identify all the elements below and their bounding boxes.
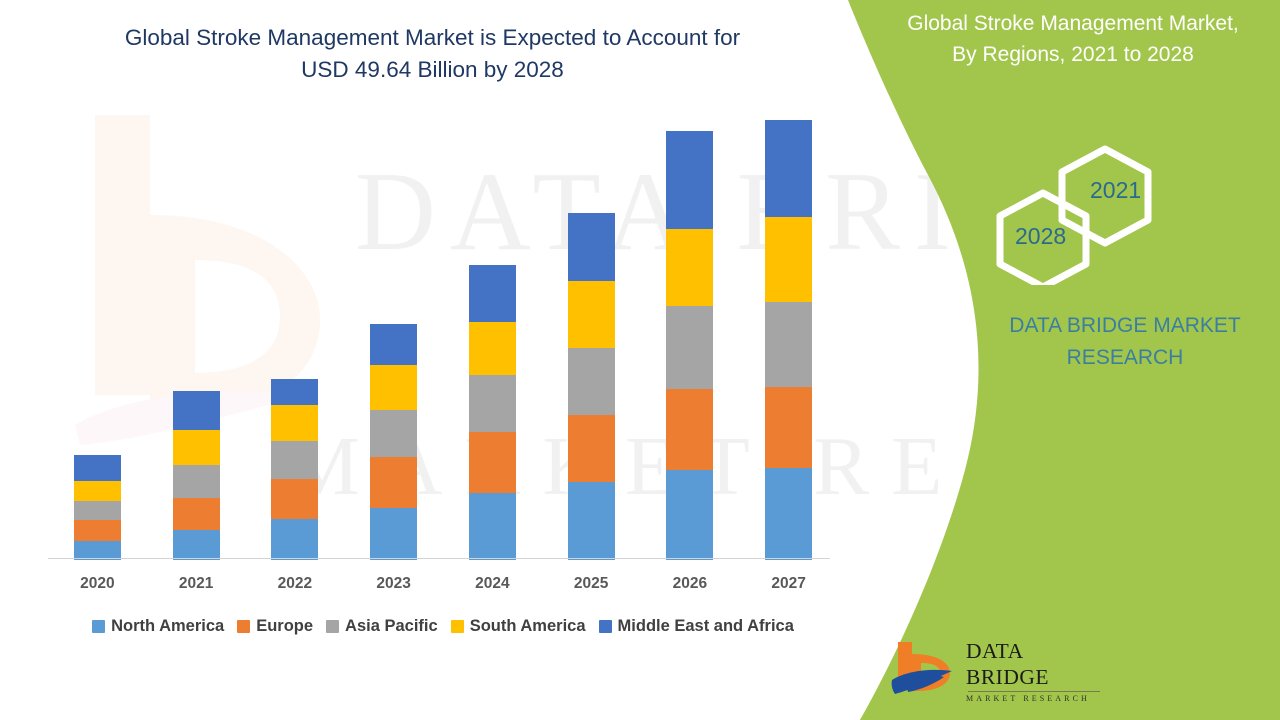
bar-segment <box>469 493 516 560</box>
bar-segment <box>74 520 121 541</box>
bar-segment <box>568 482 615 560</box>
legend-label: Europe <box>256 617 313 636</box>
legend-swatch-icon <box>451 620 464 633</box>
bar-segment <box>173 498 220 531</box>
logo-wordmark: DATA BRIDGE MARKET RESEARCH <box>966 638 1106 703</box>
bar-column <box>469 120 516 560</box>
bar-segment <box>271 405 318 441</box>
bar-segment <box>173 430 220 465</box>
bar-segment <box>271 441 318 479</box>
data-bridge-logo-icon <box>890 638 956 700</box>
bar-segment <box>370 410 417 457</box>
x-axis-line <box>48 558 830 559</box>
legend-item[interactable]: Europe <box>237 617 313 636</box>
logo-divider <box>968 691 1100 692</box>
infographic-canvas: DATA BRIDGE MARKET RESEARCH Global Strok… <box>0 0 1280 720</box>
x-axis-label-2025: 2025 <box>546 575 636 593</box>
panel-title-line-1: Global Stroke Management Market, <box>907 12 1239 35</box>
bar-segment <box>370 324 417 365</box>
chart-title-line-1: Global Stroke Management Market is Expec… <box>125 25 740 50</box>
legend-swatch-icon <box>326 620 339 633</box>
bar-segment <box>469 432 516 492</box>
bar-column <box>666 120 713 560</box>
bar-segment <box>469 375 516 432</box>
bar-segment <box>666 306 713 389</box>
bar-column <box>370 120 417 560</box>
bar-segment <box>469 265 516 322</box>
panel-brand-line-1: DATA BRIDGE MARKET <box>1009 314 1240 337</box>
bar-segment <box>666 131 713 229</box>
bar-segment <box>173 391 220 431</box>
chart-legend: North AmericaEuropeAsia PacificSouth Ame… <box>48 617 838 636</box>
x-axis-label-2026: 2026 <box>645 575 735 593</box>
bar-segment <box>666 389 713 470</box>
bar-segment <box>370 508 417 560</box>
bar-segment <box>666 470 713 560</box>
x-axis-label-2023: 2023 <box>349 575 439 593</box>
bar-segment <box>173 530 220 560</box>
hexagon-shapes-icon <box>985 145 1185 285</box>
legend-label: South America <box>470 617 586 636</box>
hexagon-2028-label: 2028 <box>1015 223 1066 250</box>
legend-label: Asia Pacific <box>345 617 438 636</box>
bar-segment <box>568 281 615 348</box>
logo-title: DATA BRIDGE <box>966 638 1106 690</box>
bar-segment <box>74 501 121 520</box>
bar-segment <box>469 322 516 375</box>
hexagon-2021-label: 2021 <box>1090 177 1141 204</box>
company-logo: DATA BRIDGE MARKET RESEARCH <box>890 638 1105 700</box>
bar-segment <box>74 481 121 502</box>
panel-brand-name: DATA BRIDGE MARKET RESEARCH <box>975 310 1275 374</box>
panel-title-line-2: By Regions, 2021 to 2028 <box>952 43 1194 66</box>
legend-swatch-icon <box>92 620 105 633</box>
x-axis-label-2020: 2020 <box>52 575 142 593</box>
legend-item[interactable]: North America <box>92 617 224 636</box>
legend-label: North America <box>111 617 224 636</box>
chart-title: Global Stroke Management Market is Expec… <box>60 22 805 86</box>
panel-brand-line-2: RESEARCH <box>1067 346 1184 369</box>
bar-segment <box>173 465 220 498</box>
x-axis-tick-labels: 20202021202220232024202520262027 <box>48 575 838 599</box>
x-axis-label-2021: 2021 <box>151 575 241 593</box>
panel-title: Global Stroke Management Market, By Regi… <box>866 8 1280 70</box>
bar-column <box>173 120 220 560</box>
bar-segment <box>370 365 417 410</box>
bar-column <box>74 120 121 560</box>
bar-segment <box>271 479 318 519</box>
bar-segment <box>74 455 121 481</box>
legend-swatch-icon <box>599 620 612 633</box>
bar-column <box>568 120 615 560</box>
logo-subtitle: MARKET RESEARCH <box>966 694 1106 703</box>
hexagon-badges: 2021 2028 <box>985 145 1185 285</box>
bar-segment <box>568 415 615 482</box>
bar-segment <box>271 519 318 560</box>
bar-segment <box>271 379 318 405</box>
bar-segment <box>370 457 417 509</box>
legend-swatch-icon <box>237 620 250 633</box>
bar-segment <box>666 229 713 307</box>
bar-column <box>271 120 318 560</box>
legend-item[interactable]: South America <box>451 617 586 636</box>
legend-item[interactable]: Asia Pacific <box>326 617 438 636</box>
bar-segment <box>568 348 615 415</box>
x-axis-label-2022: 2022 <box>250 575 340 593</box>
bar-segment <box>568 213 615 280</box>
chart-title-line-2: USD 49.64 Billion by 2028 <box>301 57 564 82</box>
bar-chart-plot-area <box>48 120 838 560</box>
x-axis-label-2024: 2024 <box>447 575 537 593</box>
